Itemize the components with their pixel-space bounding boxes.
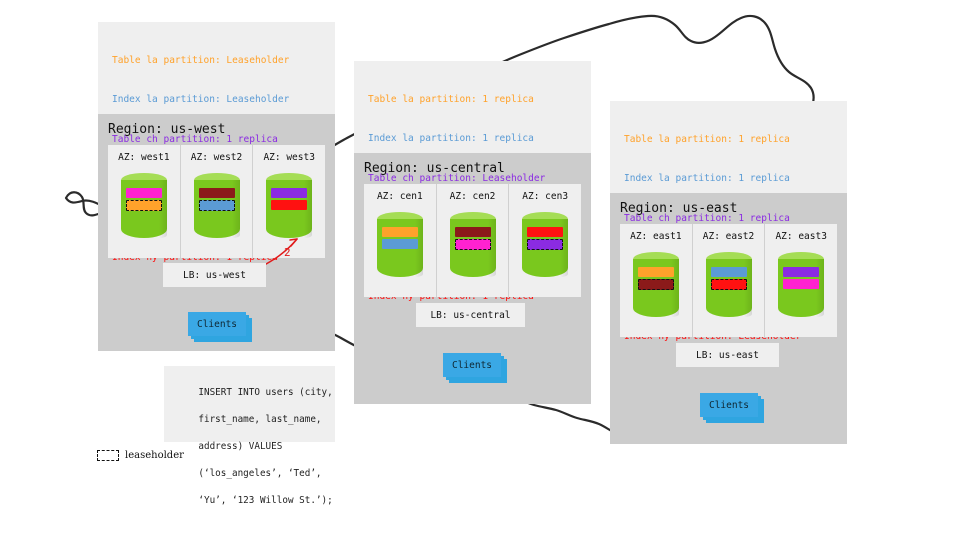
lb-us-central[interactable]: LB: us-central: [416, 303, 525, 327]
legend-line: Table la partition: Leaseholder: [112, 54, 326, 67]
partition-legend-us-west: Table la partition: Leaseholder Index la…: [98, 22, 335, 114]
sql-line: INSERT INTO users (city,: [198, 387, 332, 398]
replica-band: [783, 267, 819, 277]
az-label: AZ: west1: [108, 152, 180, 163]
az-label: AZ: east1: [620, 231, 692, 242]
diagram-canvas: Table la partition: Leaseholder Index la…: [0, 0, 960, 540]
replica-bands: [455, 227, 491, 252]
sql-line: first_name, last_name,: [198, 414, 321, 425]
replica-bands: [271, 188, 307, 212]
database-cylinder[interactable]: [706, 252, 752, 324]
replica-band: [126, 188, 162, 198]
az-label: AZ: cen3: [509, 191, 581, 202]
clients-box[interactable]: Clients: [443, 353, 501, 377]
az-strip-us-west: AZ: west1 AZ: west2 AZ:: [108, 145, 325, 258]
replica-band: [638, 267, 674, 277]
legend-line: Index la partition: Leaseholder: [112, 93, 326, 106]
replica-band: [271, 188, 307, 198]
replica-band: [199, 188, 235, 198]
az-label: AZ: west2: [181, 152, 253, 163]
replica-band: [527, 227, 563, 237]
replica-band: [455, 227, 491, 237]
region-title-us-west: Region: us-west: [108, 122, 225, 137]
sql-line: ‘Yu’, ‘123 Willow St.’);: [198, 495, 332, 506]
lb-us-west[interactable]: LB: us-west: [163, 263, 266, 287]
lb-us-east[interactable]: LB: us-east: [676, 343, 779, 367]
replica-band: [382, 227, 418, 237]
clients-label: Clients: [452, 360, 492, 371]
lb-label: LB: us-central: [430, 310, 510, 321]
legend-line: Table la partition: 1 replica: [624, 133, 838, 146]
replica-band: [271, 200, 307, 210]
replica-bands: [382, 227, 418, 251]
sql-line: address) VALUES: [198, 441, 282, 452]
az-cen1[interactable]: AZ: cen1: [364, 184, 437, 297]
az-cen3[interactable]: AZ: cen3: [509, 184, 581, 297]
sql-line: (‘los_angeles’, ‘Ted’,: [198, 468, 321, 479]
replica-band: [382, 239, 418, 249]
replica-bands: [638, 267, 674, 292]
replica-bands: [199, 188, 235, 213]
partition-legend-us-east: Table la partition: 1 replica Index la p…: [610, 101, 847, 193]
dashed-swatch-icon: [97, 450, 119, 461]
az-label: AZ: cen1: [364, 191, 436, 202]
clients-box[interactable]: Clients: [700, 393, 758, 417]
clients-label: Clients: [709, 400, 749, 411]
replica-band-leaseholder: [199, 200, 235, 211]
lb-label: LB: us-east: [696, 350, 759, 361]
database-cylinder[interactable]: [377, 212, 423, 284]
clients-us-west[interactable]: Clients: [188, 312, 246, 336]
replica-band: [783, 279, 819, 289]
az-strip-us-central: AZ: cen1 AZ: cen2 AZ: ce: [364, 184, 581, 297]
az-label: AZ: cen2: [437, 191, 509, 202]
az-west3[interactable]: AZ: west3: [253, 145, 325, 258]
database-cylinder[interactable]: [522, 212, 568, 284]
legend-line: Index la partition: 1 replica: [624, 172, 838, 185]
az-west1[interactable]: AZ: west1: [108, 145, 181, 258]
legend-line: Index la partition: 1 replica: [368, 132, 582, 145]
az-label: AZ: east2: [693, 231, 765, 242]
database-cylinder[interactable]: [266, 173, 312, 245]
az-east3[interactable]: AZ: east3: [765, 224, 837, 337]
database-cylinder[interactable]: [633, 252, 679, 324]
replica-bands: [711, 267, 747, 292]
az-label: AZ: east3: [765, 231, 837, 242]
az-strip-us-east: AZ: east1 AZ: east2 AZ:: [620, 224, 837, 337]
replica-band: [711, 267, 747, 277]
az-east1[interactable]: AZ: east1: [620, 224, 693, 337]
lb-label: LB: us-west: [183, 270, 246, 281]
sql-insert-note: INSERT INTO users (city, first_name, las…: [164, 366, 335, 442]
replica-band-leaseholder: [711, 279, 747, 290]
annotation-step-2-label: 2: [284, 246, 291, 259]
region-title-us-central: Region: us-central: [364, 161, 505, 176]
partition-legend-us-central: Table la partition: 1 replica Index la p…: [354, 61, 591, 153]
replica-band-leaseholder: [455, 239, 491, 250]
az-cen2[interactable]: AZ: cen2: [437, 184, 510, 297]
database-cylinder[interactable]: [194, 173, 240, 245]
database-cylinder[interactable]: [450, 212, 496, 284]
legend-line: Table la partition: 1 replica: [368, 93, 582, 106]
replica-bands: [783, 267, 819, 291]
replica-band-leaseholder: [126, 200, 162, 211]
clients-us-central[interactable]: Clients: [443, 353, 501, 377]
replica-bands: [126, 188, 162, 213]
replica-band-leaseholder: [638, 279, 674, 290]
clients-box[interactable]: Clients: [188, 312, 246, 336]
az-label: AZ: west3: [253, 152, 325, 163]
clients-us-east[interactable]: Clients: [700, 393, 758, 417]
leaseholder-key-label: leaseholder: [125, 450, 184, 461]
database-cylinder[interactable]: [121, 173, 167, 245]
database-cylinder[interactable]: [778, 252, 824, 324]
az-west2[interactable]: AZ: west2: [181, 145, 254, 258]
replica-band-leaseholder: [527, 239, 563, 250]
leaseholder-key: leaseholder: [97, 450, 184, 461]
region-title-us-east: Region: us-east: [620, 201, 737, 216]
az-east2[interactable]: AZ: east2: [693, 224, 766, 337]
clients-label: Clients: [197, 319, 237, 330]
replica-bands: [527, 227, 563, 252]
